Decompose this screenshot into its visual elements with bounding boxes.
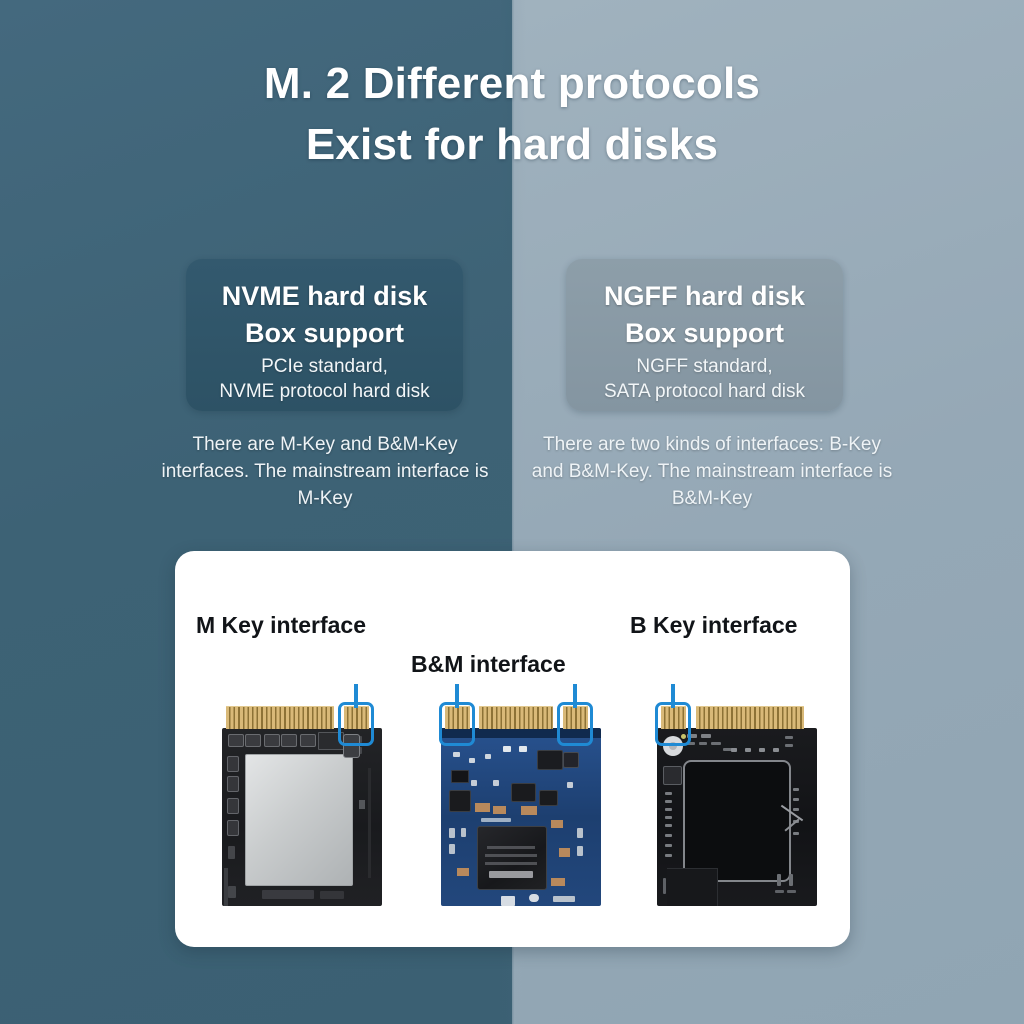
b-key-silk: [785, 744, 793, 747]
bm-key-ic: [451, 770, 469, 783]
b-key-pcb: [657, 728, 817, 906]
b-key-silk: [777, 874, 781, 886]
b-key-silk: [701, 734, 711, 738]
m-key-component: [264, 734, 280, 747]
m-key-edge-trace: [368, 768, 371, 878]
b-key-silk: [759, 748, 765, 752]
bm-key-gold-fingers-main: [479, 706, 553, 729]
m-key-heat-pad: [245, 754, 353, 886]
m-key-component: [281, 734, 297, 747]
bm-key-ic: [563, 752, 579, 768]
m-key-silkscreen: [262, 890, 314, 899]
card-nvme-heading-line1: NVME hard disk: [222, 281, 428, 311]
ssd-board-m-key: [222, 706, 382, 906]
bm-key-pad: [493, 806, 506, 814]
bm-key-silk: [501, 896, 515, 906]
description-nvme: There are M-Key and B&M-Key interfaces. …: [150, 432, 500, 513]
m-key-silkscreen: [320, 891, 344, 899]
bm-key-ic: [511, 783, 536, 802]
m-key-component: [359, 800, 365, 809]
description-ngff: There are two kinds of interfaces: B-Key…: [526, 432, 898, 513]
b-key-silk: [665, 824, 672, 827]
ssd-board-bm-key: [441, 706, 601, 906]
card-nvme: NVME hard disk Box support PCIe standard…: [186, 259, 463, 411]
b-key-silk: [699, 742, 707, 745]
card-ngff-subtext: NGFF standard, SATA protocol hard disk: [566, 355, 843, 404]
m-key-component: [300, 734, 316, 747]
b-key-notch-highlight: [655, 702, 691, 746]
bm-key-pad: [551, 820, 563, 828]
bm-key-chip-print: [485, 854, 537, 857]
b-key-silk: [793, 798, 799, 801]
m-key-pcb: [222, 728, 382, 906]
bm-key-chip-print: [485, 862, 537, 865]
bm-key-chip-print: [487, 846, 535, 849]
b-key-silk: [665, 792, 672, 795]
bm-key-silk: [469, 758, 475, 763]
m-key-component: [228, 846, 235, 859]
bm-key-silk: [449, 828, 455, 838]
b-key-silk: [773, 748, 779, 752]
bm-key-pad: [475, 803, 490, 812]
b-key-ic: [663, 766, 682, 785]
label-bm-interface: B&M interface: [411, 651, 566, 678]
bm-key-silk: [503, 746, 511, 752]
b-key-nand-pad: [683, 760, 791, 882]
bm-key-silk: [493, 780, 499, 786]
card-nvme-subtext-line1: PCIe standard,: [261, 356, 388, 377]
bm-key-silk: [453, 752, 460, 757]
card-nvme-heading-line2: Box support: [245, 318, 404, 348]
bm-key-ic: [449, 790, 471, 812]
b-key-silk: [793, 788, 799, 791]
page-title-line2: Exist for hard disks: [0, 115, 1024, 176]
bm-key-pad: [559, 848, 570, 857]
bm-key-chip-logo: [489, 871, 533, 878]
bm-key-silk: [553, 896, 575, 902]
card-ngff-subtext-line2: SATA protocol hard disk: [604, 381, 805, 402]
b-key-silk: [665, 844, 672, 847]
label-m-key-interface: M Key interface: [196, 612, 366, 639]
bm-key-silk: [471, 780, 477, 786]
m-key-component: [245, 734, 261, 747]
card-ngff-heading-line1: NGFF hard disk: [604, 281, 805, 311]
bm-key-notch-highlight-right: [557, 702, 593, 746]
bm-key-ic: [537, 750, 563, 770]
bm-key-pad: [457, 868, 469, 876]
m-key-component: [227, 798, 239, 814]
card-nvme-subtext: PCIe standard, NVME protocol hard disk: [186, 355, 463, 404]
poster-root: M. 2 Different protocols Exist for hard …: [0, 0, 1024, 1024]
bm-key-notch-highlight-left: [439, 702, 475, 746]
b-key-silk: [731, 748, 737, 752]
m-key-gold-fingers-main: [226, 706, 334, 729]
bm-key-silk: [567, 782, 573, 788]
b-key-silk: [663, 878, 666, 894]
bm-key-pcb: [441, 728, 601, 906]
b-key-gold-fingers-main: [696, 706, 804, 729]
bm-key-silk: [449, 844, 455, 854]
b-key-silk: [665, 834, 672, 837]
m-key-component: [227, 756, 239, 772]
b-key-silk: [665, 808, 672, 811]
b-key-silk: [785, 736, 793, 739]
b-key-silk: [775, 890, 784, 893]
card-ngff-subtext-line1: NGFF standard,: [636, 356, 772, 377]
card-nvme-subtext-line2: NVME protocol hard disk: [219, 381, 429, 402]
b-key-silk: [745, 748, 751, 752]
bm-key-controller-chip: [477, 826, 547, 890]
m-key-rail: [224, 868, 228, 906]
b-key-pcb-cutout: [667, 868, 718, 906]
page-title-line1: M. 2 Different protocols: [264, 59, 760, 108]
b-key-silk: [787, 890, 796, 893]
bm-key-silk: [577, 828, 583, 838]
b-key-silk: [793, 832, 799, 835]
b-key-silk: [665, 800, 672, 803]
b-key-silk: [789, 874, 793, 886]
m-key-component: [228, 886, 236, 898]
b-key-silk: [793, 808, 799, 811]
card-ngff-heading: NGFF hard disk Box support: [566, 278, 843, 351]
m-key-component: [227, 820, 239, 836]
bm-key-silk: [485, 754, 491, 759]
m-key-component: [228, 734, 244, 747]
card-nvme-heading: NVME hard disk Box support: [186, 278, 463, 351]
ssd-board-b-key: [657, 706, 817, 906]
b-key-silk: [665, 816, 672, 819]
label-b-key-interface: B Key interface: [630, 612, 797, 639]
bm-key-silk: [577, 846, 583, 856]
bm-key-pad: [521, 806, 537, 815]
m-key-component: [227, 776, 239, 792]
card-ngff-heading-line2: Box support: [625, 318, 784, 348]
m-key-notch-highlight: [338, 702, 374, 746]
bm-key-ic: [539, 790, 558, 806]
card-ngff: NGFF hard disk Box support NGFF standard…: [566, 259, 843, 411]
bm-key-silk: [519, 746, 527, 752]
page-title: M. 2 Different protocols Exist for hard …: [0, 54, 1024, 175]
bm-key-trace: [481, 818, 511, 822]
bm-key-pad: [551, 878, 565, 886]
b-key-silk: [665, 854, 672, 857]
bm-key-silk: [529, 894, 539, 902]
b-key-silk: [711, 742, 721, 745]
bm-key-silk: [461, 828, 466, 837]
